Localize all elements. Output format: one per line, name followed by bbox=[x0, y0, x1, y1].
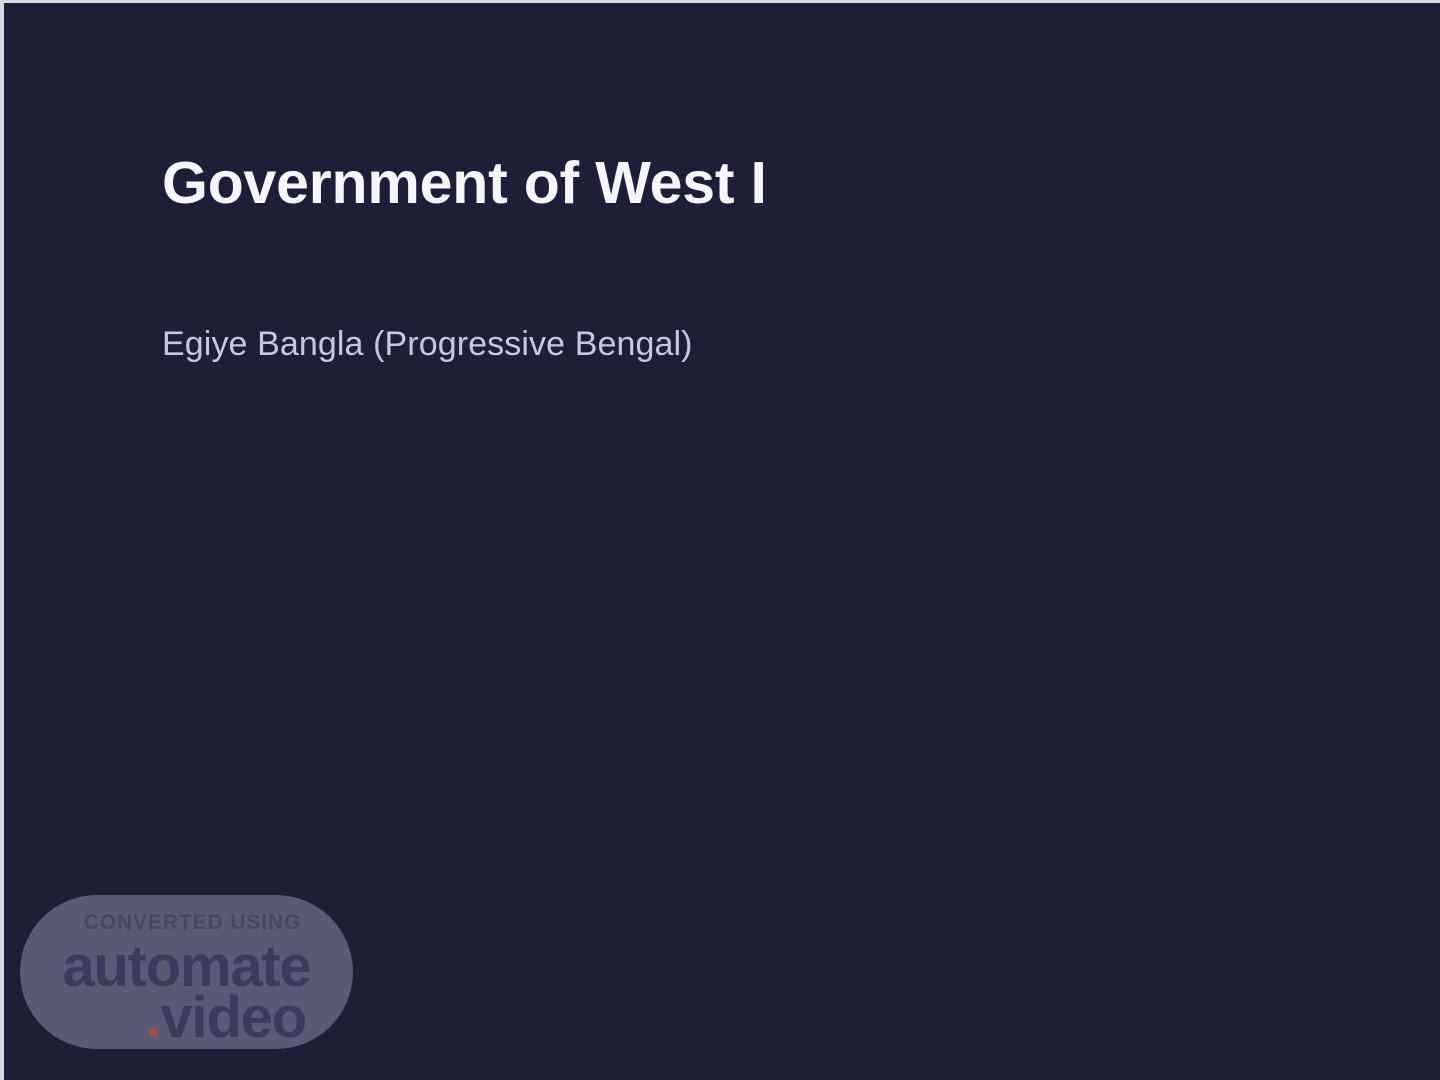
watermark-dot: . bbox=[146, 985, 161, 1050]
slide-left-edge-strip bbox=[0, 0, 4, 1080]
slide-top-edge-strip bbox=[0, 0, 1440, 3]
slide-text-block: Government of West I Egiye Bangla (Progr… bbox=[162, 150, 1342, 365]
slide-title: Government of West I bbox=[162, 150, 1342, 218]
watermark-kicker-text: CONVERTED USING bbox=[50, 905, 323, 933]
presentation-slide: Government of West I Egiye Bangla (Progr… bbox=[0, 0, 1440, 1080]
watermark-badge: CONVERTED USING automate .video bbox=[20, 895, 353, 1049]
watermark-tld-text: video bbox=[161, 985, 307, 1050]
slide-subtitle: Egiye Bangla (Progressive Bengal) bbox=[162, 218, 1342, 365]
